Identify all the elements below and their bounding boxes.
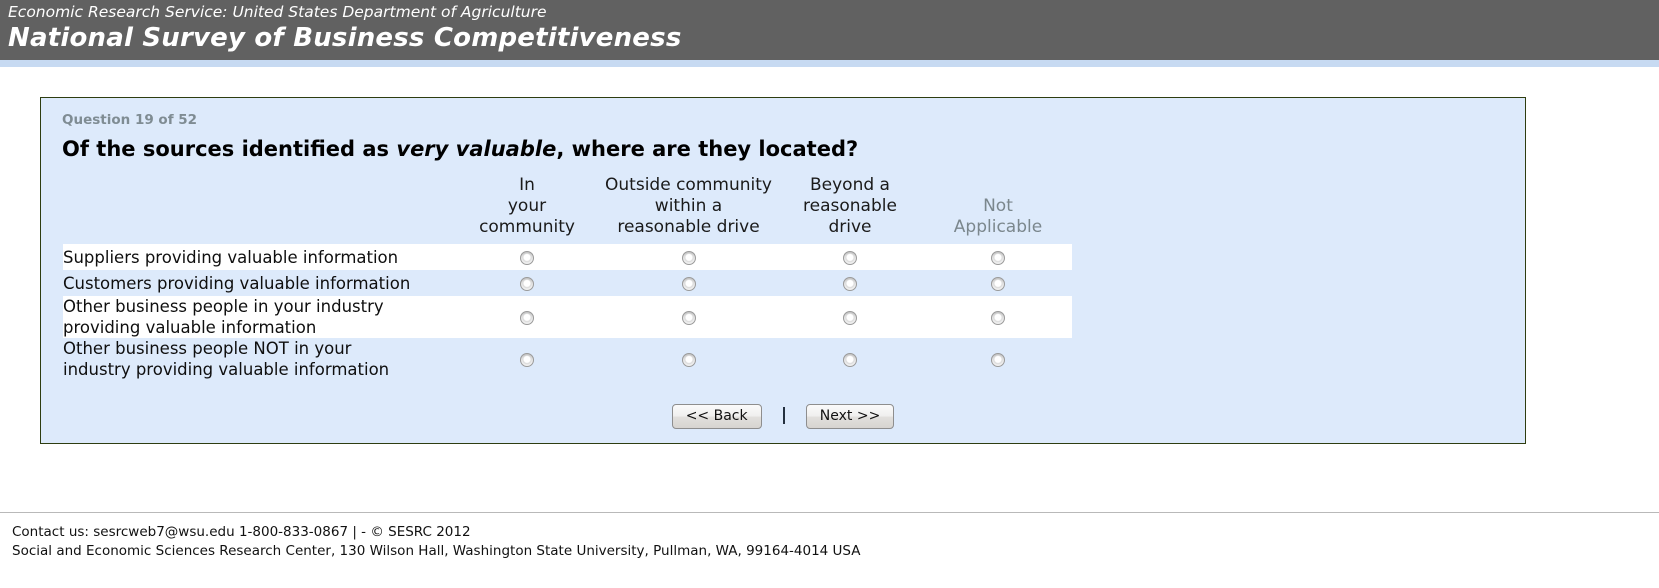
matrix-corner-cell	[63, 175, 453, 244]
question-panel: Question 19 of 52 Of the sources identif…	[40, 97, 1526, 444]
radio-cell[interactable]	[453, 338, 601, 380]
radio-button-icon[interactable]	[843, 353, 857, 367]
table-row: Other business people NOT in your indust…	[63, 338, 1072, 380]
row-label-line: Other business people in your industry	[63, 296, 453, 317]
column-header-line: Not	[928, 196, 1068, 217]
row-label-line: providing valuable information	[63, 317, 453, 338]
question-suffix: , where are they located?	[556, 137, 858, 161]
column-header-line: In	[457, 175, 597, 196]
survey-title: National Survey of Business Competitiven…	[8, 22, 1659, 54]
radio-button-icon[interactable]	[991, 277, 1005, 291]
radio-cell[interactable]	[924, 338, 1072, 380]
radio-cell[interactable]	[776, 338, 924, 380]
row-label-other-not-in-industry: Other business people NOT in your indust…	[63, 338, 453, 380]
radio-cell[interactable]	[453, 296, 601, 338]
radio-button-icon[interactable]	[520, 311, 534, 325]
radio-cell[interactable]	[601, 270, 776, 296]
row-label-suppliers: Suppliers providing valuable information	[63, 244, 453, 270]
column-header-line: drive	[780, 217, 920, 238]
question-emphasis: very valuable	[396, 137, 556, 161]
radio-button-icon[interactable]	[843, 277, 857, 291]
radio-button-icon[interactable]	[682, 277, 696, 291]
radio-cell[interactable]	[776, 296, 924, 338]
row-label-line: industry providing valuable information	[63, 359, 453, 380]
matrix-header-row: In your community Outside community with…	[63, 175, 1072, 244]
column-header-beyond-reasonable-drive: Beyond a reasonable drive	[776, 175, 924, 244]
column-header-line: within a	[605, 196, 772, 217]
question-prefix: Of the sources identified as	[62, 137, 396, 161]
row-label-line: Other business people NOT in your	[63, 338, 453, 359]
row-label-line: Suppliers providing valuable information	[63, 247, 453, 268]
table-row: Other business people in your industry p…	[63, 296, 1072, 338]
question-title: Of the sources identified as very valuab…	[62, 137, 1525, 161]
column-header-line: Applicable	[928, 217, 1068, 238]
back-button[interactable]: << Back	[672, 404, 762, 429]
matrix-header: In your community Outside community with…	[63, 175, 1072, 244]
radio-cell[interactable]	[453, 244, 601, 270]
matrix-body: Suppliers providing valuable information…	[63, 244, 1072, 380]
column-header-line: reasonable	[780, 196, 920, 217]
column-header-line: Beyond a	[780, 175, 920, 196]
radio-button-icon[interactable]	[520, 251, 534, 265]
column-header-line: Outside community	[605, 175, 772, 196]
radio-cell[interactable]	[924, 296, 1072, 338]
response-matrix: In your community Outside community with…	[63, 175, 1072, 380]
radio-button-icon[interactable]	[991, 353, 1005, 367]
agency-line: Economic Research Service: United States…	[8, 2, 1659, 22]
radio-button-icon[interactable]	[843, 311, 857, 325]
radio-button-icon[interactable]	[682, 251, 696, 265]
table-row: Suppliers providing valuable information	[63, 244, 1072, 270]
column-header-not-applicable: Not Applicable	[924, 175, 1072, 244]
page-footer: Contact us: sesrcweb7@wsu.edu 1-800-833-…	[0, 512, 1659, 561]
radio-button-icon[interactable]	[520, 353, 534, 367]
radio-cell[interactable]	[453, 270, 601, 296]
radio-cell[interactable]	[601, 338, 776, 380]
table-row: Customers providing valuable information	[63, 270, 1072, 296]
row-label-other-in-industry: Other business people in your industry p…	[63, 296, 453, 338]
panel-wrapper: Question 19 of 52 Of the sources identif…	[0, 67, 1659, 444]
site-header: Economic Research Service: United States…	[0, 0, 1659, 60]
radio-cell[interactable]	[776, 244, 924, 270]
radio-button-icon[interactable]	[991, 311, 1005, 325]
row-label-line: Customers providing valuable information	[63, 273, 453, 294]
radio-button-icon[interactable]	[520, 277, 534, 291]
next-button[interactable]: Next >>	[806, 404, 895, 429]
radio-button-icon[interactable]	[991, 251, 1005, 265]
question-counter: Question 19 of 52	[62, 112, 1525, 128]
row-label-customers: Customers providing valuable information	[63, 270, 453, 296]
footer-contact-line: Contact us: sesrcweb7@wsu.edu 1-800-833-…	[12, 523, 1659, 542]
column-header-line: community	[457, 217, 597, 238]
radio-cell[interactable]	[924, 244, 1072, 270]
column-header-line: reasonable drive	[605, 217, 772, 238]
radio-button-icon[interactable]	[682, 311, 696, 325]
radio-button-icon[interactable]	[843, 251, 857, 265]
navigation-bar: << Back Next >>	[41, 404, 1525, 429]
radio-cell[interactable]	[601, 244, 776, 270]
radio-cell[interactable]	[776, 270, 924, 296]
radio-cell[interactable]	[924, 270, 1072, 296]
column-header-in-your-community: In your community	[453, 175, 601, 244]
column-header-outside-community: Outside community within a reasonable dr…	[601, 175, 776, 244]
footer-address-line: Social and Economic Sciences Research Ce…	[12, 542, 1659, 561]
column-header-line: your	[457, 196, 597, 217]
radio-button-icon[interactable]	[682, 353, 696, 367]
nav-separator	[783, 407, 785, 424]
header-accent-strip	[0, 60, 1659, 67]
radio-cell[interactable]	[601, 296, 776, 338]
